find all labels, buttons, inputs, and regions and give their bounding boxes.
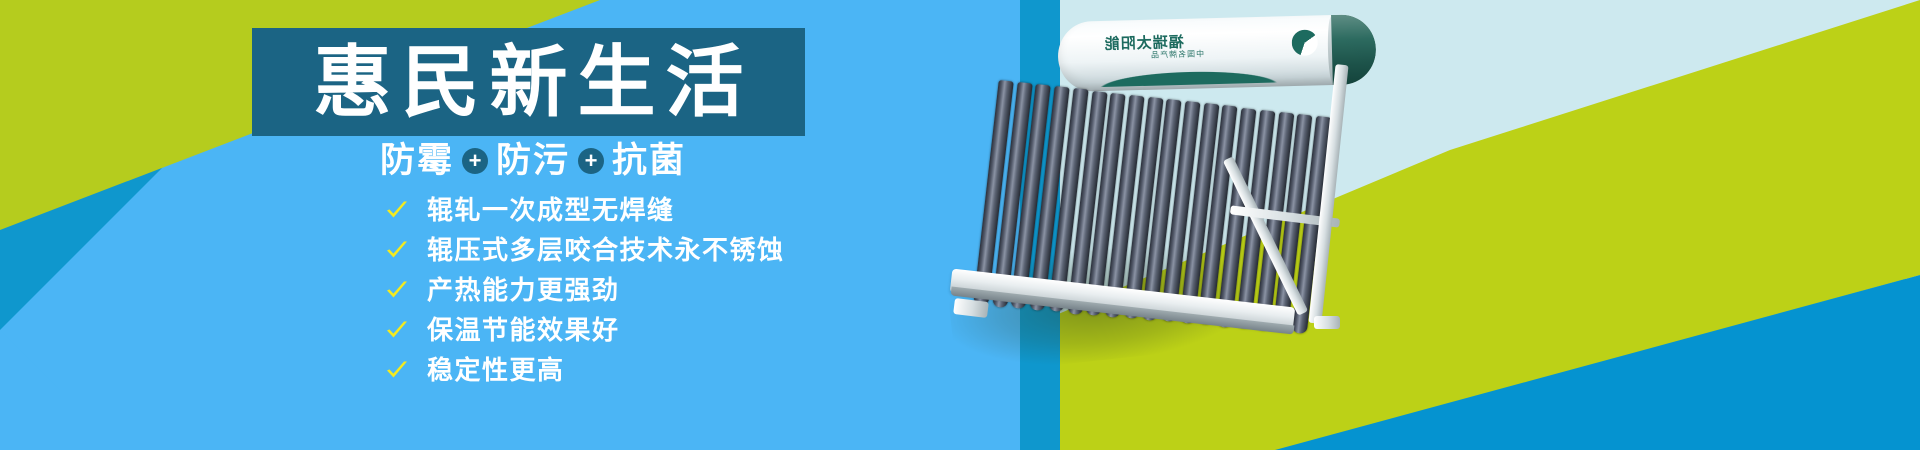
promo-banner: 惠民新生活 防霉 + 防污 + 抗菌 辊轧一次成型无焊缝 辊压式多层咬合技术永不… bbox=[0, 0, 1920, 450]
list-item-label: 保温节能效果好 bbox=[427, 317, 620, 343]
list-item: 稳定性更高 bbox=[385, 354, 785, 385]
plus-icon: + bbox=[578, 148, 604, 174]
list-item-label: 稳定性更高 bbox=[427, 357, 565, 383]
check-icon bbox=[385, 198, 409, 222]
headline-box: 惠民新生活 bbox=[252, 28, 805, 136]
subtitle-word-1: 防霉 bbox=[380, 143, 454, 178]
plus-icon: + bbox=[462, 148, 488, 174]
page-title: 惠民新生活 bbox=[303, 43, 753, 121]
list-item-label: 辊压式多层咬合技术永不锈蚀 bbox=[427, 237, 785, 263]
brand-logo-icon bbox=[1291, 29, 1318, 56]
solar-water-heater-image: 福瑞太阳能 中国名牌产品 bbox=[930, 0, 1490, 400]
subtitle-row: 防霉 + 防污 + 抗菌 bbox=[380, 143, 686, 178]
list-item: 辊压式多层咬合技术永不锈蚀 bbox=[385, 234, 785, 265]
subtitle-word-2: 防污 bbox=[496, 143, 570, 178]
check-icon bbox=[385, 278, 409, 302]
list-item: 产热能力更强劲 bbox=[385, 274, 785, 305]
list-item-label: 辊轧一次成型无焊缝 bbox=[427, 197, 675, 223]
check-icon bbox=[385, 238, 409, 262]
support-foot-rear bbox=[1314, 316, 1340, 329]
tank-subtext: 中国名牌产品 bbox=[1150, 48, 1204, 60]
list-item-label: 产热能力更强劲 bbox=[427, 277, 620, 303]
list-item: 辊轧一次成型无焊缝 bbox=[385, 194, 785, 225]
check-icon bbox=[385, 358, 409, 382]
check-icon bbox=[385, 318, 409, 342]
subtitle-word-3: 抗菌 bbox=[612, 143, 686, 178]
list-item: 保温节能效果好 bbox=[385, 314, 785, 345]
feature-list: 辊轧一次成型无焊缝 辊压式多层咬合技术永不锈蚀 产热能力更强劲 保温节能效果好 bbox=[385, 194, 785, 385]
